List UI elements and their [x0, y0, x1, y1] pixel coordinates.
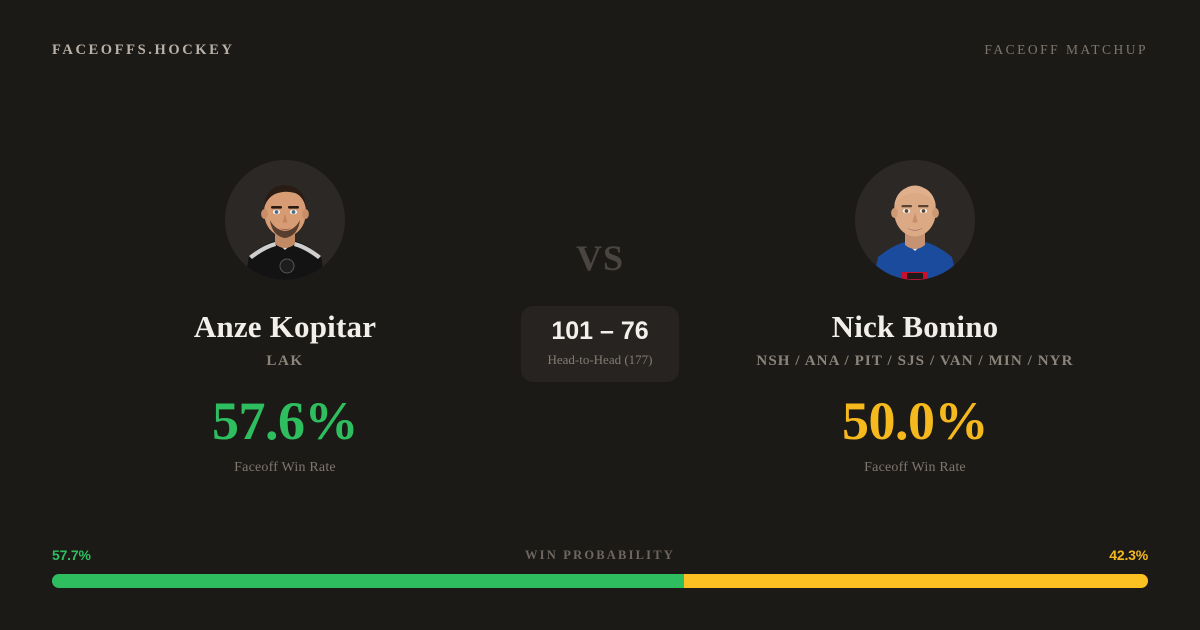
right-player-teams: NSH / ANA / PIT / SJS / VAN / MIN / NYR — [756, 353, 1073, 370]
head-to-head-score: 101 – 76 — [551, 319, 648, 344]
page-header: FACEOFFS.HOCKEY FACEOFF MATCHUP — [0, 0, 1200, 100]
win-probability-section: 57.7% WIN PROBABILITY 42.3% — [52, 547, 1148, 588]
win-probability-title: WIN PROBABILITY — [525, 548, 675, 563]
versus-block: VS 101 – 76 Head-to-Head (177) — [500, 104, 700, 382]
head-to-head-label: Head-to-Head (177) — [547, 352, 652, 368]
left-player-teams: LAK — [266, 353, 303, 370]
right-player-card[interactable]: Nick Bonino NSH / ANA / PIT / SJS / VAN … — [700, 104, 1130, 476]
page-title: FACEOFF MATCHUP — [984, 42, 1148, 58]
right-player-avatar — [855, 160, 975, 280]
left-player-avatar — [225, 160, 345, 280]
matchup-container: Anze Kopitar LAK 57.6% Faceoff Win Rate … — [0, 104, 1200, 504]
left-player-pct-caption: Faceoff Win Rate — [234, 460, 336, 476]
versus-label: VS — [576, 240, 624, 276]
win-probability-labels: 57.7% WIN PROBABILITY 42.3% — [52, 547, 1148, 563]
head-to-head-card[interactable]: 101 – 76 Head-to-Head (177) — [521, 306, 678, 382]
win-probability-bar-right-fill — [684, 574, 1148, 588]
site-brand[interactable]: FACEOFFS.HOCKEY — [52, 42, 235, 59]
left-player-card[interactable]: Anze Kopitar LAK 57.6% Faceoff Win Rate — [70, 104, 500, 476]
win-probability-left-value: 57.7% — [52, 547, 91, 563]
right-player-name: Nick Bonino — [832, 310, 999, 344]
win-probability-bar-left-fill — [52, 574, 684, 588]
left-player-faceoff-pct: 57.6% — [212, 394, 358, 448]
win-probability-bar[interactable] — [52, 574, 1148, 588]
left-player-name: Anze Kopitar — [194, 310, 376, 344]
right-player-pct-caption: Faceoff Win Rate — [864, 460, 966, 476]
right-player-faceoff-pct: 50.0% — [842, 394, 988, 448]
win-probability-right-value: 42.3% — [1109, 547, 1148, 563]
